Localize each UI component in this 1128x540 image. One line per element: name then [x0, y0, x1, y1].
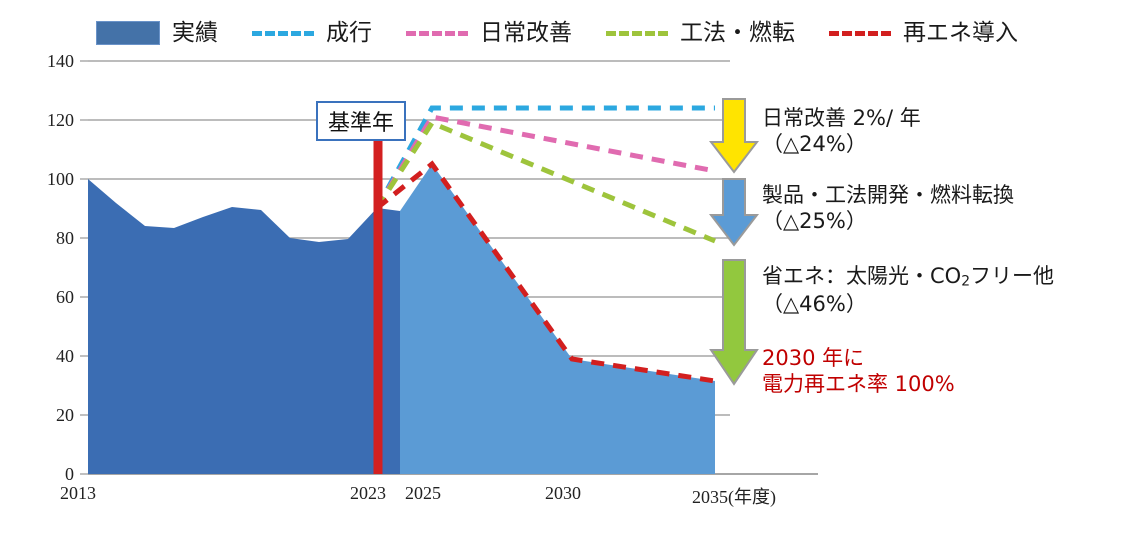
- annotation-energy-saving-line1: 省エネ：太陽光・CO2フリー他: [762, 263, 1054, 291]
- annotation-process-fuel: 製品・工法開発・燃料転換 （△25%）: [762, 182, 1014, 235]
- arrow-daily-improvement: [711, 99, 757, 172]
- series-area-projection: [400, 164, 715, 474]
- annotation-energy-saving-line1-post: フリー他: [970, 264, 1054, 288]
- x-tick-2023: 2023: [350, 483, 386, 504]
- y-tick-140: 140: [34, 51, 74, 72]
- annotation-daily-improvement-line2: （△24%）: [762, 131, 921, 157]
- annotation-daily-improvement-line1: 日常改善 2%/ 年: [762, 105, 921, 131]
- x-tick-2030: 2030: [545, 483, 581, 504]
- arrow-process-fuel: [711, 179, 757, 245]
- annotation-renewable-target-line2: 電力再エネ率 100%: [762, 371, 955, 397]
- x-tick-2035: 2035(年度): [692, 483, 776, 509]
- y-tick-0: 0: [34, 464, 74, 485]
- x-tick-2025: 2025: [405, 483, 441, 504]
- y-tick-100: 100: [34, 169, 74, 190]
- chart-canvas: 実績 成行 日常改善 工法・燃転 再エネ導入: [0, 0, 1128, 540]
- annotation-process-fuel-line2: （△25%）: [762, 208, 1014, 234]
- base-year-callout: 基準年: [316, 101, 406, 141]
- annotation-energy-saving-subscript: 2: [961, 273, 970, 289]
- y-tick-20: 20: [34, 405, 74, 426]
- annotation-renewable-target: 2030 年に 電力再エネ率 100%: [762, 345, 955, 398]
- chart-y-tickmarks: [80, 61, 88, 474]
- annotation-energy-saving-line1-pre: 省エネ：太陽光・CO: [762, 264, 961, 288]
- y-tick-60: 60: [34, 287, 74, 308]
- y-tick-40: 40: [34, 346, 74, 367]
- series-area-actual: [88, 179, 400, 474]
- y-tick-120: 120: [34, 110, 74, 131]
- arrow-energy-saving: [711, 260, 757, 384]
- x-tick-2013: 2013: [60, 483, 96, 504]
- annotation-renewable-target-line1: 2030 年に: [762, 345, 955, 371]
- y-tick-80: 80: [34, 228, 74, 249]
- annotation-energy-saving-line2: （△46%）: [762, 291, 1054, 317]
- annotation-energy-saving: 省エネ：太陽光・CO2フリー他 （△46%）: [762, 263, 1054, 317]
- annotation-daily-improvement: 日常改善 2%/ 年 （△24%）: [762, 105, 921, 158]
- annotation-process-fuel-line1: 製品・工法開発・燃料転換: [762, 182, 1014, 208]
